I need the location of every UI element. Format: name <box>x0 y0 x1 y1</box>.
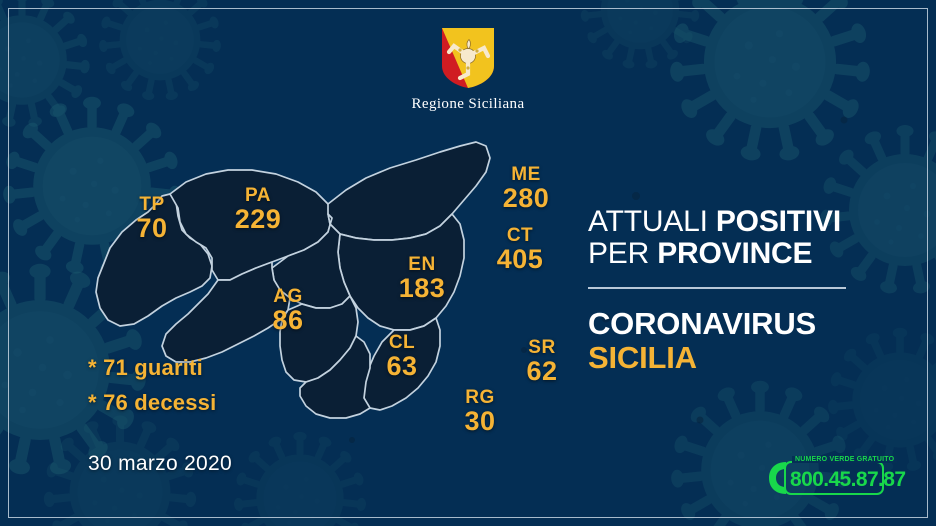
subtitle-coronavirus: CORONAVIRUS <box>588 307 888 341</box>
province-value: 86 <box>256 307 320 334</box>
province-code: SR <box>510 338 574 357</box>
province-label-messina: ME 280 <box>490 165 562 212</box>
toll-free-number[interactable]: 800.45.87.87 <box>790 468 905 492</box>
province-label-siracusa: SR 62 <box>510 338 574 385</box>
toll-free-phone-badge[interactable]: NUMERO VERDE GRATUITO 800.45.87.87 <box>766 457 886 499</box>
province-shape-messina <box>328 142 490 240</box>
province-code: CT <box>484 226 556 245</box>
province-label-caltanissetta: CL 63 <box>370 333 434 380</box>
stat-recovered: * 71 guariti <box>88 355 216 381</box>
province-code: ME <box>490 165 562 184</box>
province-value: 30 <box>448 408 512 435</box>
province-value: 405 <box>484 246 556 273</box>
province-code: EN <box>386 255 458 274</box>
stat-deaths: * 76 decessi <box>88 390 216 416</box>
province-code: TP <box>120 195 184 214</box>
sicilian-trinacria-coat-of-arms <box>440 26 496 90</box>
province-label-ragusa: RG 30 <box>448 388 512 435</box>
province-value: 229 <box>222 206 294 233</box>
province-value: 63 <box>370 353 434 380</box>
province-code: AG <box>256 287 320 306</box>
province-value: 62 <box>510 358 574 385</box>
summary-stats: * 71 guariti * 76 decessi <box>88 355 216 425</box>
province-value: 280 <box>490 185 562 212</box>
province-label-trapani: TP 70 <box>120 195 184 242</box>
title-row-1: ATTUALI POSITIVI <box>588 206 888 238</box>
province-value: 183 <box>386 275 458 302</box>
header: Regione Siciliana <box>0 26 936 113</box>
province-label-catania: CT 405 <box>484 226 556 273</box>
province-label-agrigento: AG 86 <box>256 287 320 334</box>
province-value: 70 <box>120 215 184 242</box>
province-code: CL <box>370 333 434 352</box>
title-panel: ATTUALI POSITIVI PER PROVINCE CORONAVIRU… <box>588 206 888 375</box>
province-code: PA <box>222 186 294 205</box>
title-divider <box>588 287 846 289</box>
title-word-per: PER <box>588 237 649 270</box>
title-word-positivi: POSITIVI <box>716 205 841 238</box>
province-code: RG <box>448 388 512 407</box>
title-word-province: PROVINCE <box>657 237 812 270</box>
region-name: Regione Siciliana <box>0 96 936 113</box>
subtitle-sicilia: SICILIA <box>588 341 888 375</box>
title-word-attuali: ATTUALI <box>588 205 708 238</box>
title-row-2: PER PROVINCE <box>588 238 888 270</box>
phone-handset-icon <box>766 459 790 497</box>
province-label-enna: EN 183 <box>386 255 458 302</box>
province-label-palermo: PA 229 <box>222 186 294 233</box>
toll-free-label: NUMERO VERDE GRATUITO <box>792 456 897 463</box>
report-date: 30 marzo 2020 <box>88 452 232 476</box>
